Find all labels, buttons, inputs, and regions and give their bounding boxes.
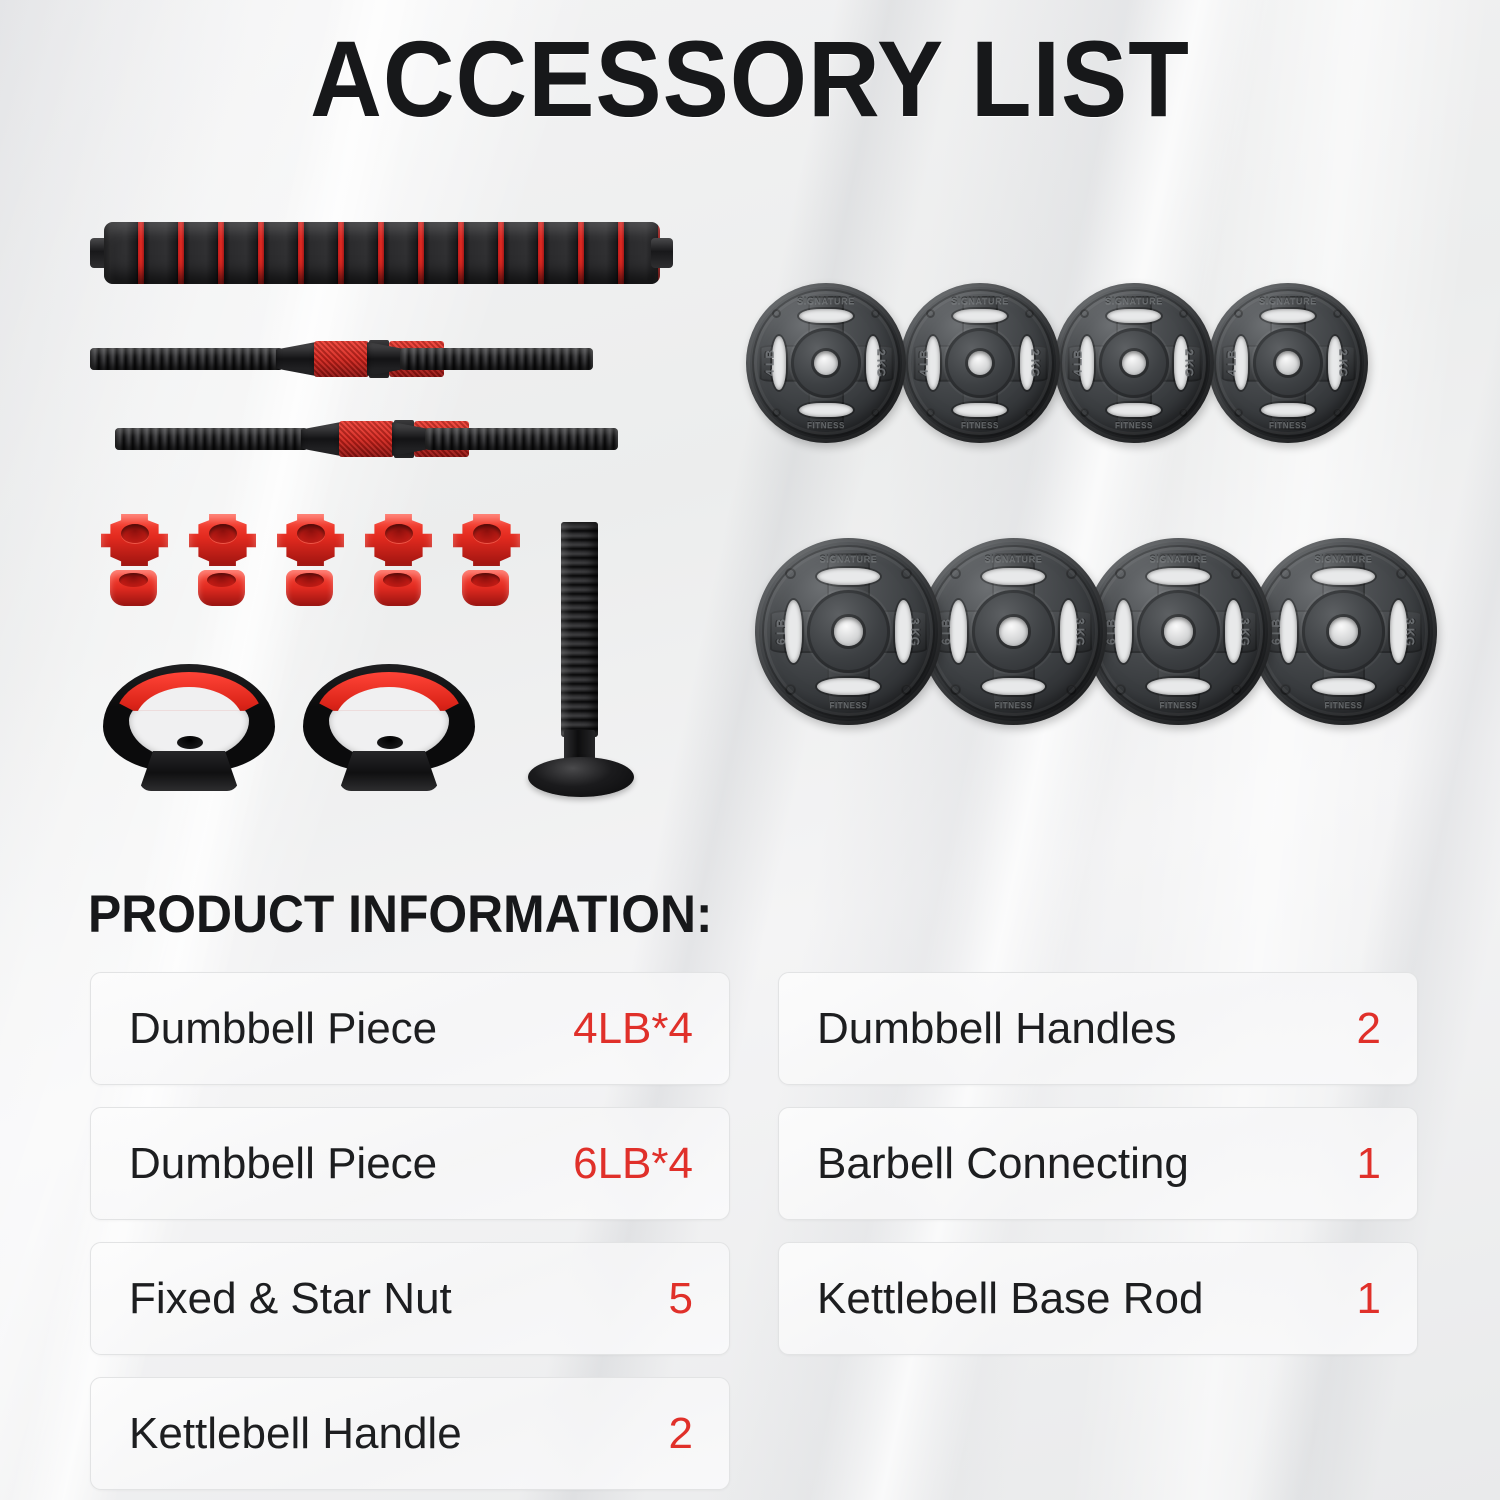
plate-center-bore — [1329, 617, 1357, 645]
plate-grip-slot-bottom — [1107, 403, 1161, 417]
info-value: 2 — [1357, 1004, 1381, 1054]
product-information-heading: PRODUCT INFORMATION: — [88, 884, 713, 945]
collar-bore — [383, 573, 412, 587]
info-label: Barbell Connecting — [817, 1139, 1189, 1189]
plate-grip-slot-left — [1115, 600, 1132, 664]
info-value: 1 — [1357, 1274, 1381, 1324]
plate-center-bore — [1164, 617, 1192, 645]
weight-plate-4lb-1: SIGNATURE FITNESS 4 LB 2 KG — [746, 283, 906, 443]
plate-grip-slot-right — [1225, 600, 1242, 664]
info-row: Dumbbell Handles 2 — [778, 972, 1418, 1085]
plate-grip-slot-left — [926, 336, 940, 390]
fixed-collar-1 — [110, 570, 157, 606]
plate-grip-slot-right — [1174, 336, 1188, 390]
plate-grip-slot-right — [866, 336, 880, 390]
plate-grip-slot-right — [1020, 336, 1034, 390]
page-title: ACCESSORY LIST — [60, 16, 1440, 141]
plate-grip-slot-left — [950, 600, 967, 664]
handle-thread-left — [115, 428, 308, 450]
plate-grip-slot-right — [895, 600, 912, 664]
info-label: Dumbbell Piece — [129, 1139, 437, 1189]
star-nut-bore — [121, 524, 149, 543]
plate-grip-slot-top — [817, 568, 881, 585]
plate-grip-slot-top — [953, 309, 1007, 323]
info-label: Kettlebell Handle — [129, 1409, 462, 1459]
star-nut-3 — [277, 514, 344, 566]
plate-grip-slot-right — [1060, 600, 1077, 664]
handle-red-grip-left — [314, 341, 369, 377]
kettlebell-base-foot — [139, 751, 239, 791]
info-value: 2 — [669, 1409, 693, 1459]
kettlebell-handle-2 — [303, 664, 475, 791]
info-row: Barbell Connecting 1 — [778, 1107, 1418, 1220]
star-nut-2 — [189, 514, 256, 566]
collar-bore — [119, 573, 148, 587]
info-label: Fixed & Star Nut — [129, 1274, 452, 1324]
star-nut-bore — [209, 524, 237, 543]
info-row: Fixed & Star Nut 5 — [90, 1242, 730, 1355]
fixed-collar-5 — [462, 570, 509, 606]
plate-grip-slot-top — [1107, 309, 1161, 323]
fixed-collar-2 — [198, 570, 245, 606]
plate-grip-slot-top — [799, 309, 853, 323]
plate-grip-slot-left — [1280, 600, 1297, 664]
fixed-collar-3 — [286, 570, 333, 606]
collar-bore — [295, 573, 324, 587]
accessory-list-infographic: ACCESSORY LIST — [0, 0, 1500, 1500]
product-info-column-right: Dumbbell Handles 2 Barbell Connecting 1 … — [778, 972, 1418, 1377]
plate-grip-slot-bottom — [982, 678, 1046, 695]
plate-grip-slot-bottom — [1261, 403, 1315, 417]
plate-center-bore — [999, 617, 1027, 645]
handle-cone-left — [276, 342, 316, 376]
plate-grip-slot-left — [1234, 336, 1248, 390]
plate-grip-slot-bottom — [953, 403, 1007, 417]
collar-bore — [207, 573, 236, 587]
info-row: Dumbbell Piece 4LB*4 — [90, 972, 730, 1085]
kettlebell-socket — [177, 736, 203, 749]
info-row: Kettlebell Base Rod 1 — [778, 1242, 1418, 1355]
weight-plate-6lb-1: SIGNATURE FITNESS 6 LB 3 KG — [755, 538, 942, 725]
info-value: 4LB*4 — [573, 1004, 693, 1054]
plate-center-bore — [814, 351, 838, 375]
plate-center-bore — [968, 351, 992, 375]
product-info-column-left: Dumbbell Piece 4LB*4 Dumbbell Piece 6LB*… — [90, 972, 730, 1500]
info-label: Dumbbell Handles — [817, 1004, 1177, 1054]
weight-plate-6lb-3: SIGNATURE FITNESS 6 LB 3 KG — [1085, 538, 1272, 725]
foam-bar-grip — [104, 222, 660, 284]
kettlebell-base-foot — [339, 751, 439, 791]
kettlebell-handle-1 — [103, 664, 275, 791]
fixed-collar-4 — [374, 570, 421, 606]
foam-bar-end-cap-right — [651, 238, 673, 268]
handle-thread-right — [425, 428, 618, 450]
plate-grip-slot-left — [772, 336, 786, 390]
info-value: 1 — [1357, 1139, 1381, 1189]
weight-plate-6lb-2: SIGNATURE FITNESS 6 LB 3 KG — [920, 538, 1107, 725]
plate-center-bore — [1276, 351, 1300, 375]
info-row: Kettlebell Handle 2 — [90, 1377, 730, 1490]
weight-plate-4lb-2: SIGNATURE FITNESS 4 LB 2 KG — [900, 283, 1060, 443]
handle-red-grip-left — [339, 421, 394, 457]
kettlebell-base-rod — [528, 522, 634, 797]
base-rod-foot-disc — [528, 757, 634, 797]
weight-plate-6lb-4: SIGNATURE FITNESS 6 LB 3 KG — [1250, 538, 1437, 725]
handle-thread-right — [400, 348, 593, 370]
plate-grip-slot-bottom — [1312, 678, 1376, 695]
plate-center-bore — [1122, 351, 1146, 375]
star-nut-bore — [385, 524, 413, 543]
barbell-connecting-foam-bar — [90, 222, 673, 284]
info-value: 5 — [669, 1274, 693, 1324]
info-row: Dumbbell Piece 6LB*4 — [90, 1107, 730, 1220]
plate-grip-slot-bottom — [1147, 678, 1211, 695]
star-nut-4 — [365, 514, 432, 566]
dumbbell-handle-1 — [90, 339, 593, 379]
info-value: 6LB*4 — [573, 1139, 693, 1189]
info-label: Kettlebell Base Rod — [817, 1274, 1203, 1324]
weight-plate-4lb-3: SIGNATURE FITNESS 4 LB 2 KG — [1054, 283, 1214, 443]
plate-grip-slot-bottom — [817, 678, 881, 695]
kettlebell-socket — [377, 736, 403, 749]
dumbbell-handle-2 — [115, 419, 618, 459]
star-nut-5 — [453, 514, 520, 566]
plate-grip-slot-right — [1328, 336, 1342, 390]
plate-grip-slot-top — [1261, 309, 1315, 323]
star-nut-bore — [473, 524, 501, 543]
plate-grip-slot-right — [1390, 600, 1407, 664]
base-rod-threaded-shaft — [561, 522, 598, 737]
collar-bore — [471, 573, 500, 587]
weight-plate-4lb-4: SIGNATURE FITNESS 4 LB 2 KG — [1208, 283, 1368, 443]
star-nut-1 — [101, 514, 168, 566]
plate-grip-slot-top — [1147, 568, 1211, 585]
plate-center-bore — [834, 617, 862, 645]
handle-thread-left — [90, 348, 283, 370]
info-label: Dumbbell Piece — [129, 1004, 437, 1054]
plate-grip-slot-left — [785, 600, 802, 664]
star-nut-bore — [297, 524, 325, 543]
handle-cone-left — [301, 422, 341, 456]
plate-grip-slot-left — [1080, 336, 1094, 390]
plate-grip-slot-top — [1312, 568, 1376, 585]
plate-grip-slot-bottom — [799, 403, 853, 417]
plate-grip-slot-top — [982, 568, 1046, 585]
